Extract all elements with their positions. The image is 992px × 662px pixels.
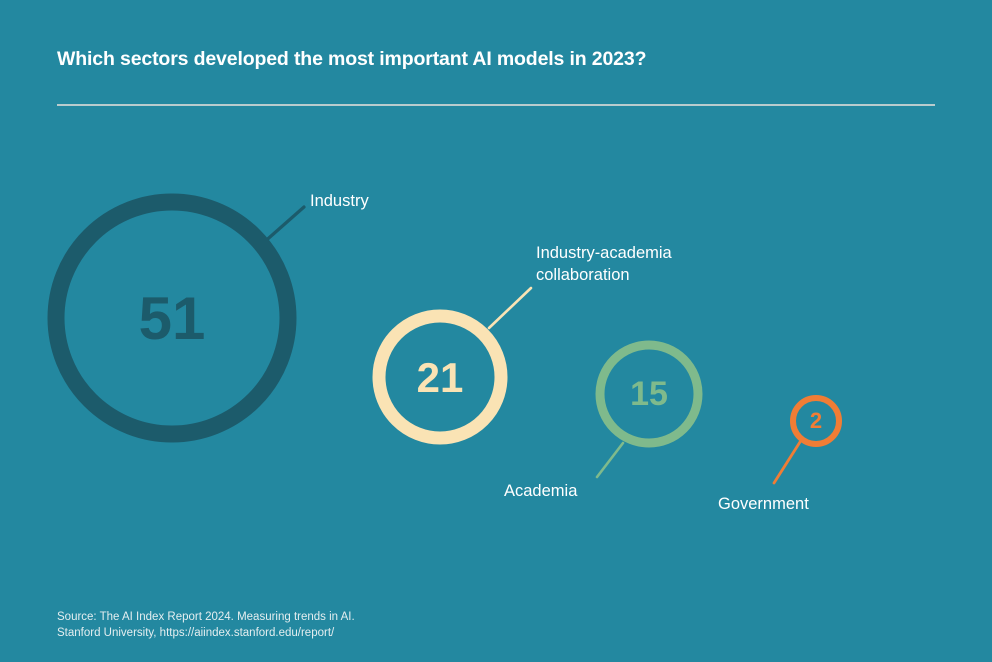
bubble-label-academia: Academia <box>504 481 577 503</box>
bubble-industry[interactable] <box>56 202 288 434</box>
bubble-collaboration[interactable] <box>379 316 501 438</box>
leader-line-collaboration <box>489 288 531 328</box>
leader-line-academia <box>597 443 623 477</box>
bubble-label-government: Government <box>718 494 809 516</box>
source-note: Source: The AI Index Report 2024. Measur… <box>57 609 355 642</box>
bubble-academia[interactable] <box>600 345 698 443</box>
leader-line-government <box>774 442 800 483</box>
bubble-label-industry: Industry <box>310 191 369 213</box>
infographic-root: Which sectors developed the most importa… <box>0 0 992 662</box>
bubble-label-collaboration: Industry-academia collaboration <box>536 243 672 287</box>
bubble-chart-canvas <box>0 0 992 662</box>
leader-line-industry <box>262 207 304 244</box>
bubble-government[interactable] <box>793 398 839 444</box>
